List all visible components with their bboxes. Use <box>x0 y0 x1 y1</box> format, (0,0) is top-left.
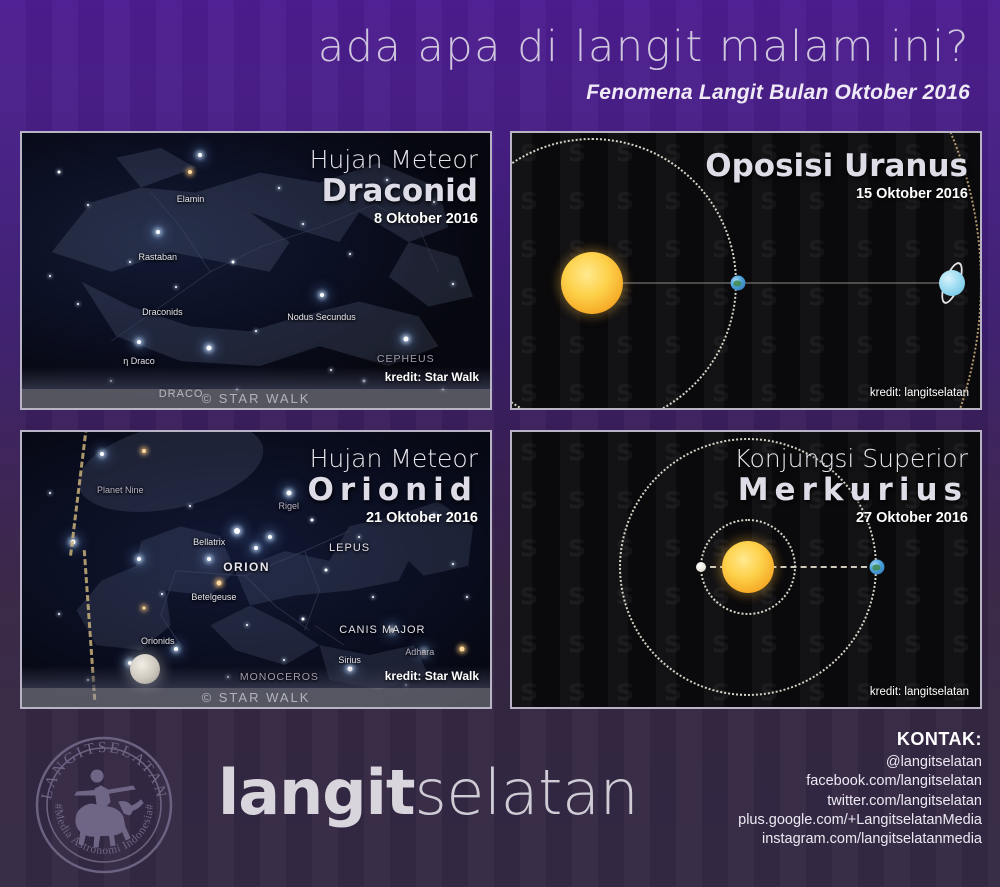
panel-kicker: Konjungsi Superior <box>734 446 968 471</box>
poster-root: ada apa di langit malam ini? Fenomena La… <box>0 0 1000 887</box>
star-label: Nodus Secundus <box>287 312 356 322</box>
panel-credit: kredit: langitselatan <box>870 686 969 698</box>
poster-footer: LANGITSELATAN #Media Astronomi Indonesia… <box>0 712 1000 887</box>
page-title: ada apa di langit malam ini? <box>0 0 970 69</box>
panel-heading: Hujan Meteor Draconid 8 Oktober 2016 <box>310 147 478 227</box>
starwalk-watermark-text: © STAR WALK <box>202 391 311 406</box>
constellation-label: ORION <box>223 560 270 574</box>
panel-title: Orionid <box>308 475 478 506</box>
langitselatan-logo[interactable]: LANGITSELATAN #Media Astronomi Indonesia… <box>33 734 175 876</box>
star-label: Rigel <box>278 501 299 511</box>
panel-orionid[interactable]: Planet Nine Rigel Bellatrix ORION LEPUS … <box>20 430 492 709</box>
panel-grid: Elamin Rastaban Draconids Nodus Secundus… <box>20 131 982 709</box>
panel-date: 15 Oktober 2016 <box>705 187 968 202</box>
star-label: η Draco <box>123 356 155 366</box>
opposition-sight-line <box>592 283 964 284</box>
moon <box>130 654 160 684</box>
panel-heading: Hujan Meteor Orionid 21 Oktober 2016 <box>308 446 478 526</box>
constellation-label: CEPHEUS <box>377 353 435 365</box>
panel-title: Oposisi Uranus <box>705 151 968 182</box>
panel-heading: Konjungsi Superior Merkurius 27 Oktober … <box>734 446 968 526</box>
panel-date: 21 Oktober 2016 <box>308 511 478 526</box>
star-label: Elamin <box>177 194 205 204</box>
contact-block: KONTAK: @langitselatan facebook.com/lang… <box>738 729 982 849</box>
starwalk-watermark-bar: © STAR WALK <box>22 389 490 408</box>
starwalk-watermark-bar: © STAR WALK <box>22 688 490 707</box>
panel-kicker: Hujan Meteor <box>308 446 478 471</box>
star-label: Planet Nine <box>97 485 144 495</box>
contact-handle[interactable]: @langitselatan <box>738 753 982 772</box>
starwalk-watermark-text: © STAR WALK <box>202 690 311 705</box>
wordmark-bold: langit <box>218 756 415 829</box>
panel-konjungsi-merkurius[interactable]: ss ss ss ss ss ss ss ss ss ss ss ss ss s… <box>510 430 982 709</box>
sun-body <box>722 541 774 593</box>
panel-oposisi-uranus[interactable]: ss ss ss ss ss ss ss ss ss ss ss ss ss s… <box>510 131 982 410</box>
panel-date: 27 Oktober 2016 <box>734 511 968 526</box>
star-label: Sirius <box>338 655 361 665</box>
contact-twitter[interactable]: twitter.com/langitselatan <box>738 792 982 811</box>
panel-credit: kredit: Star Walk <box>385 370 479 384</box>
panel-credit: kredit: langitselatan <box>870 387 969 399</box>
constellation-label: CANIS MAJOR <box>339 624 425 636</box>
wordmark-light: selatan <box>415 756 639 829</box>
panel-title: Merkurius <box>734 475 968 506</box>
panel-kicker: Hujan Meteor <box>310 147 478 172</box>
panel-heading: Oposisi Uranus 15 Oktober 2016 <box>705 147 968 202</box>
poster-header: ada apa di langit malam ini? Fenomena La… <box>0 0 1000 125</box>
earth-body <box>731 276 746 291</box>
wordmark: langitselatan <box>218 762 638 824</box>
star-label: Adhara <box>405 647 434 657</box>
constellation-label: MONOCEROS <box>240 671 319 683</box>
star-label: Bellatrix <box>193 537 225 547</box>
contact-facebook[interactable]: facebook.com/langitselatan <box>738 772 982 791</box>
contact-googleplus[interactable]: plus.google.com/+LangitselatanMedia <box>738 811 982 830</box>
mercury-body <box>696 562 706 572</box>
panel-credit: kredit: Star Walk <box>385 669 479 683</box>
panel-date: 8 Oktober 2016 <box>310 212 478 227</box>
sun-body <box>561 252 623 314</box>
contact-instagram[interactable]: instagram.com/langitselatanmedia <box>738 830 982 849</box>
constellation-label: LEPUS <box>329 542 370 554</box>
page-subtitle: Fenomena Langit Bulan Oktober 2016 <box>0 81 970 105</box>
panel-title: Draconid <box>310 176 478 207</box>
uranus-body <box>929 260 975 306</box>
star-label: Draconids <box>142 307 183 317</box>
star-label: Rastaban <box>138 252 177 262</box>
panel-draconid[interactable]: Elamin Rastaban Draconids Nodus Secundus… <box>20 131 492 410</box>
star-label: Betelgeuse <box>191 592 236 602</box>
star-label: Orionids <box>141 636 175 646</box>
earth-body <box>870 560 885 575</box>
uranus-sphere <box>939 270 965 296</box>
contact-title: KONTAK: <box>738 729 982 750</box>
